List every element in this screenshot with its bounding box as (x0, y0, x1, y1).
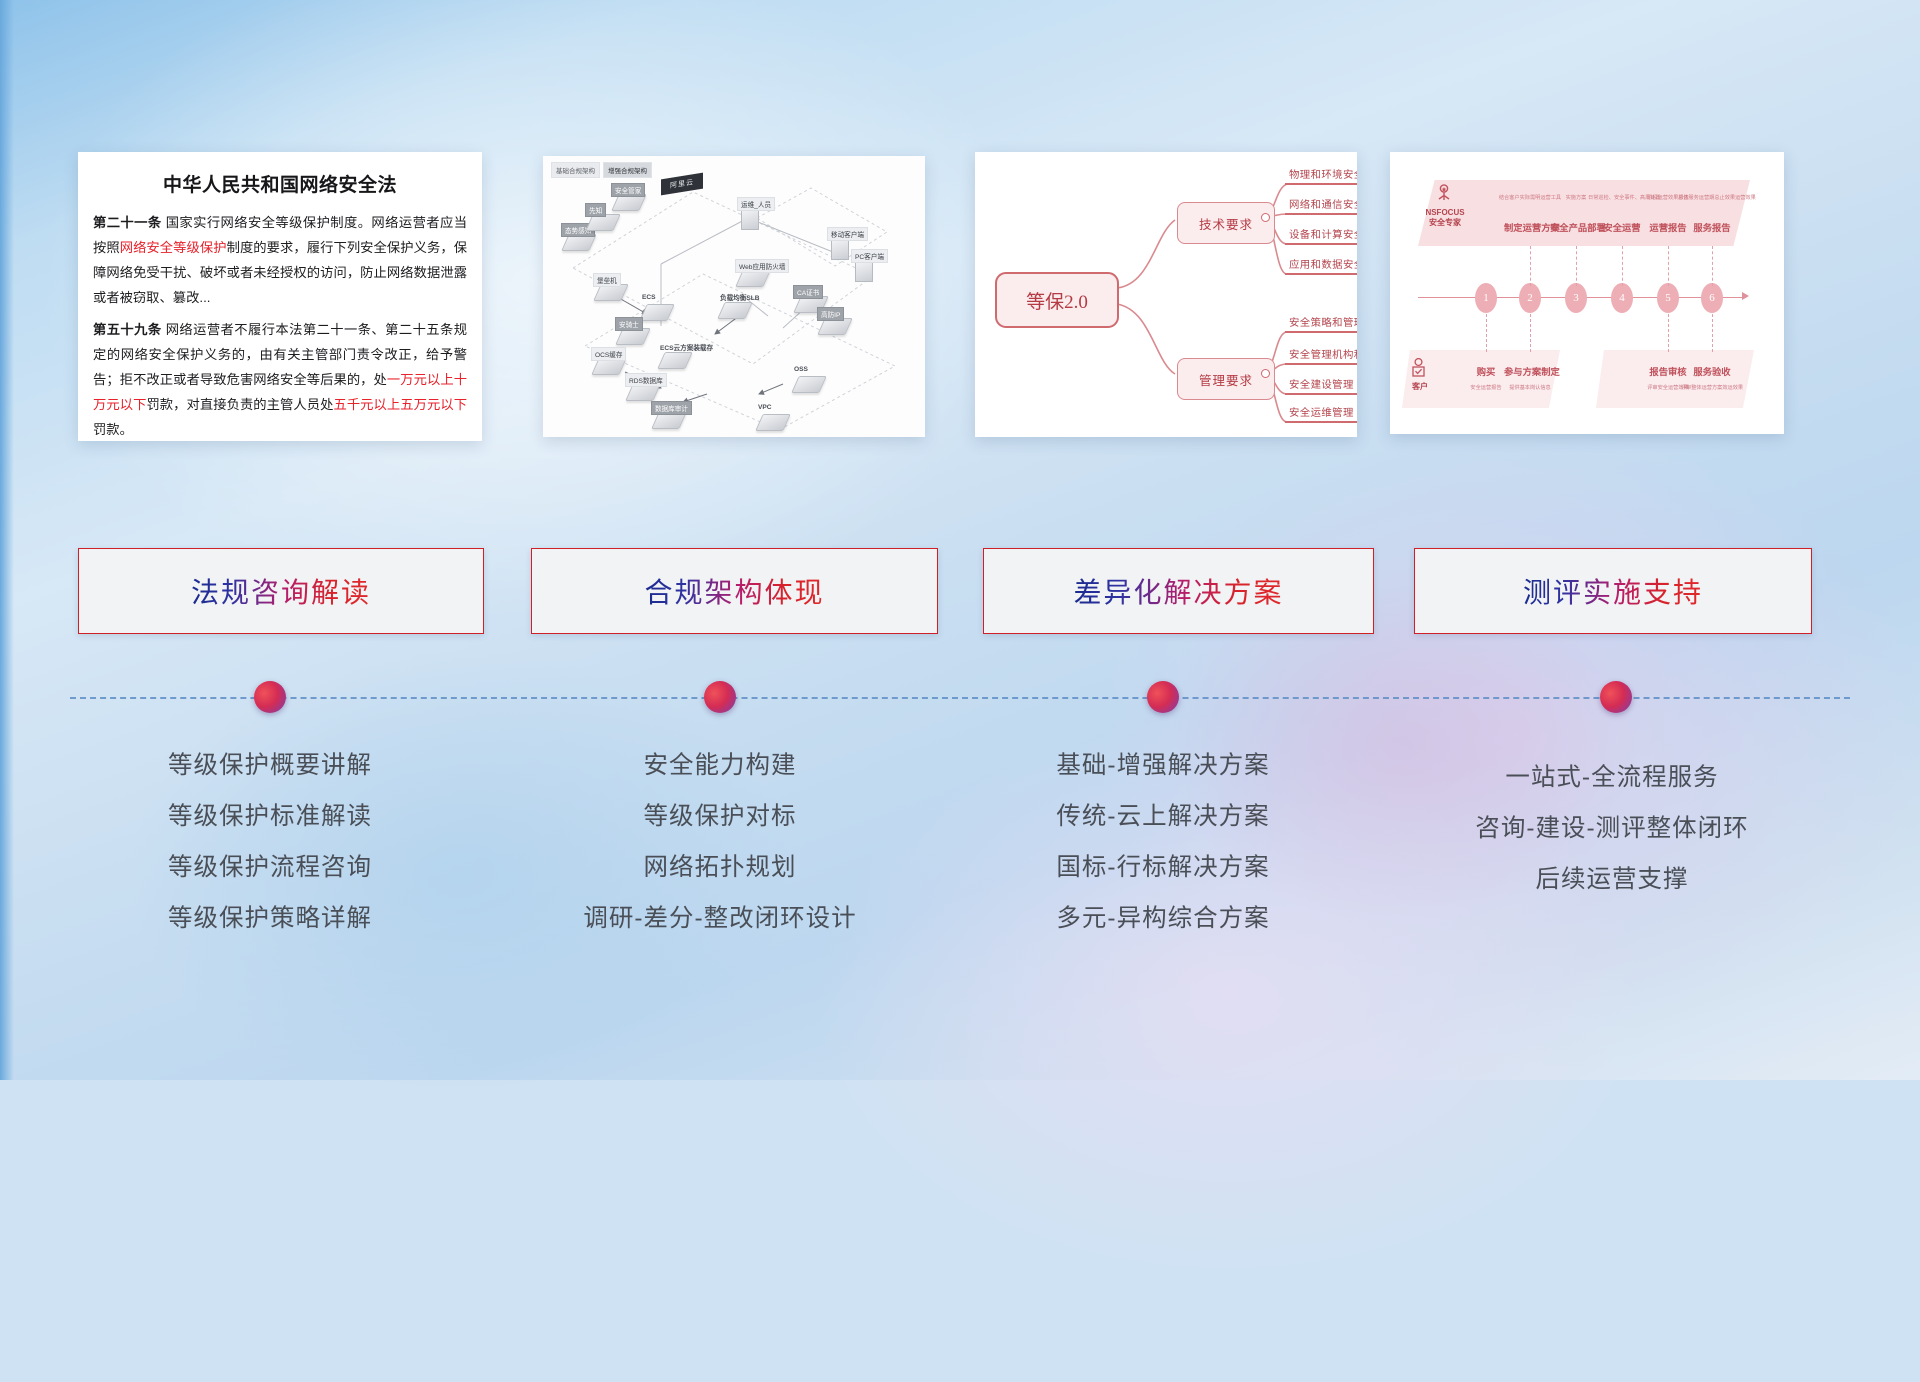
pillar-label-1: 法规咨询解读 (191, 571, 371, 611)
pillar-differentiated-solution[interactable]: 差异化解决方案 (983, 548, 1374, 634)
detail-item: 一站式-全流程服务 (1412, 752, 1812, 803)
detail-item: 后续运营支撑 (1412, 854, 1812, 905)
pillar-label-2: 合规架构体现 (644, 571, 824, 611)
timeline-dot-1[interactable] (254, 681, 286, 713)
timeline-dot-2[interactable] (704, 681, 736, 713)
detail-item: 基础-增强解决方案 (963, 740, 1363, 791)
detail-item: 安全能力构建 (520, 740, 920, 791)
pillar-label-3: 差异化解决方案 (1073, 571, 1283, 611)
pillar-label-4: 测评实施支持 (1523, 571, 1703, 611)
pillar-compliance-architecture[interactable]: 合规架构体现 (531, 548, 938, 634)
timeline-dot-4[interactable] (1600, 681, 1632, 713)
detail-item: 网络拓扑规划 (520, 842, 920, 893)
detail-column-3: 基础-增强解决方案 传统-云上解决方案 国标-行标解决方案 多元-异构综合方案 (963, 740, 1363, 944)
detail-item: 等级保护概要讲解 (70, 740, 470, 791)
detail-item: 国标-行标解决方案 (963, 842, 1363, 893)
detail-item: 传统-云上解决方案 (963, 791, 1363, 842)
detail-item: 等级保护流程咨询 (70, 842, 470, 893)
detail-item: 等级保护标准解读 (70, 791, 470, 842)
timeline-dot-3[interactable] (1147, 681, 1179, 713)
detail-item: 等级保护对标 (520, 791, 920, 842)
detail-item: 多元-异构综合方案 (963, 893, 1363, 944)
detail-item: 咨询-建设-测评整体闭环 (1412, 803, 1812, 854)
detail-column-4: 一站式-全流程服务 咨询-建设-测评整体闭环 后续运营支撑 (1412, 752, 1812, 905)
pillar-assessment-support[interactable]: 测评实施支持 (1414, 548, 1812, 634)
detail-column-2: 安全能力构建 等级保护对标 网络拓扑规划 调研-差分-整改闭环设计 (520, 740, 920, 944)
detail-item: 调研-差分-整改闭环设计 (520, 893, 920, 944)
timeline-dashed-line (70, 697, 1850, 699)
detail-column-1: 等级保护概要讲解 等级保护标准解读 等级保护流程咨询 等级保护策略详解 (70, 740, 470, 944)
detail-item: 等级保护策略详解 (70, 893, 470, 944)
pillar-row: 法规咨询解读 合规架构体现 差异化解决方案 测评实施支持 等级保护概要讲解 等级… (0, 0, 1920, 1080)
pillar-regulation-consulting[interactable]: 法规咨询解读 (78, 548, 484, 634)
